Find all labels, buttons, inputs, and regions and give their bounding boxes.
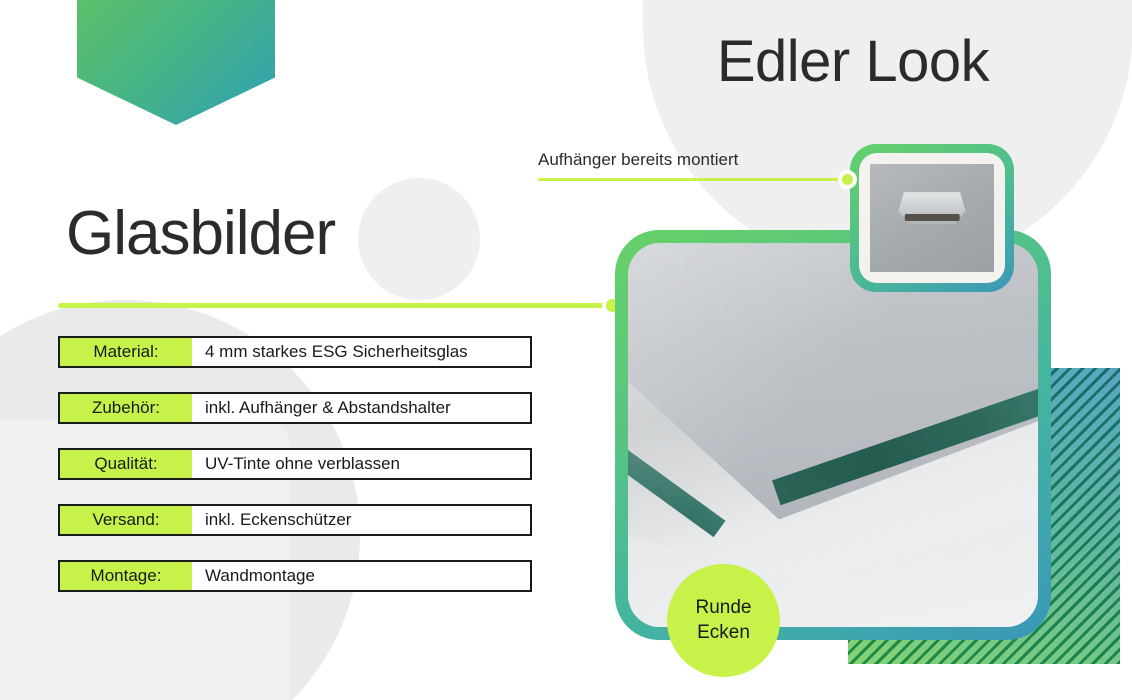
product-photo bbox=[628, 243, 1038, 627]
secondary-heading: Edler Look bbox=[643, 28, 1063, 95]
table-row: Material: 4 mm starkes ESG Sicherheitsgl… bbox=[58, 336, 532, 368]
table-row: Qualität: UV-Tinte ohne verblassen bbox=[58, 448, 532, 480]
spec-key: Material: bbox=[60, 338, 192, 366]
hanger-detail-inset bbox=[850, 144, 1014, 292]
spec-key: Versand: bbox=[60, 506, 192, 534]
spec-key: Montage: bbox=[60, 562, 192, 590]
spec-key: Qualität: bbox=[60, 450, 192, 478]
table-row: Zubehör: inkl. Aufhänger & Abstandshalte… bbox=[58, 392, 532, 424]
spec-value: Wandmontage bbox=[192, 562, 530, 590]
spec-list: Material: 4 mm starkes ESG Sicherheitsgl… bbox=[58, 336, 532, 616]
callout-line bbox=[538, 178, 854, 181]
spec-key: Zubehör: bbox=[60, 394, 192, 422]
page-title: Glasbilder bbox=[66, 198, 335, 269]
hanger-photo bbox=[870, 164, 994, 272]
title-underline bbox=[58, 303, 610, 308]
hanger-slot bbox=[905, 214, 960, 222]
spec-value: 4 mm starkes ESG Sicherheitsglas bbox=[192, 338, 530, 366]
spec-value: inkl. Eckenschützer bbox=[192, 506, 530, 534]
logo-shield-icon bbox=[77, 0, 275, 125]
callout-label: Aufhänger bereits montiert bbox=[538, 150, 738, 170]
status-badge: Runde Ecken bbox=[667, 564, 780, 677]
badge-line-2: Ecken bbox=[697, 621, 750, 645]
badge-line-1: Runde bbox=[696, 596, 752, 620]
callout-connector-dot-icon bbox=[838, 170, 857, 189]
background-circle-title bbox=[358, 178, 480, 300]
spec-value: UV-Tinte ohne verblassen bbox=[192, 450, 530, 478]
infographic-canvas: Edler Look Glasbilder Material: 4 mm sta… bbox=[0, 0, 1132, 700]
glass-sheen-overlay bbox=[628, 243, 1038, 627]
hanger-inset-matte bbox=[859, 153, 1005, 283]
spec-value: inkl. Aufhänger & Abstandshalter bbox=[192, 394, 530, 422]
table-row: Montage: Wandmontage bbox=[58, 560, 532, 592]
table-row: Versand: inkl. Eckenschützer bbox=[58, 504, 532, 536]
